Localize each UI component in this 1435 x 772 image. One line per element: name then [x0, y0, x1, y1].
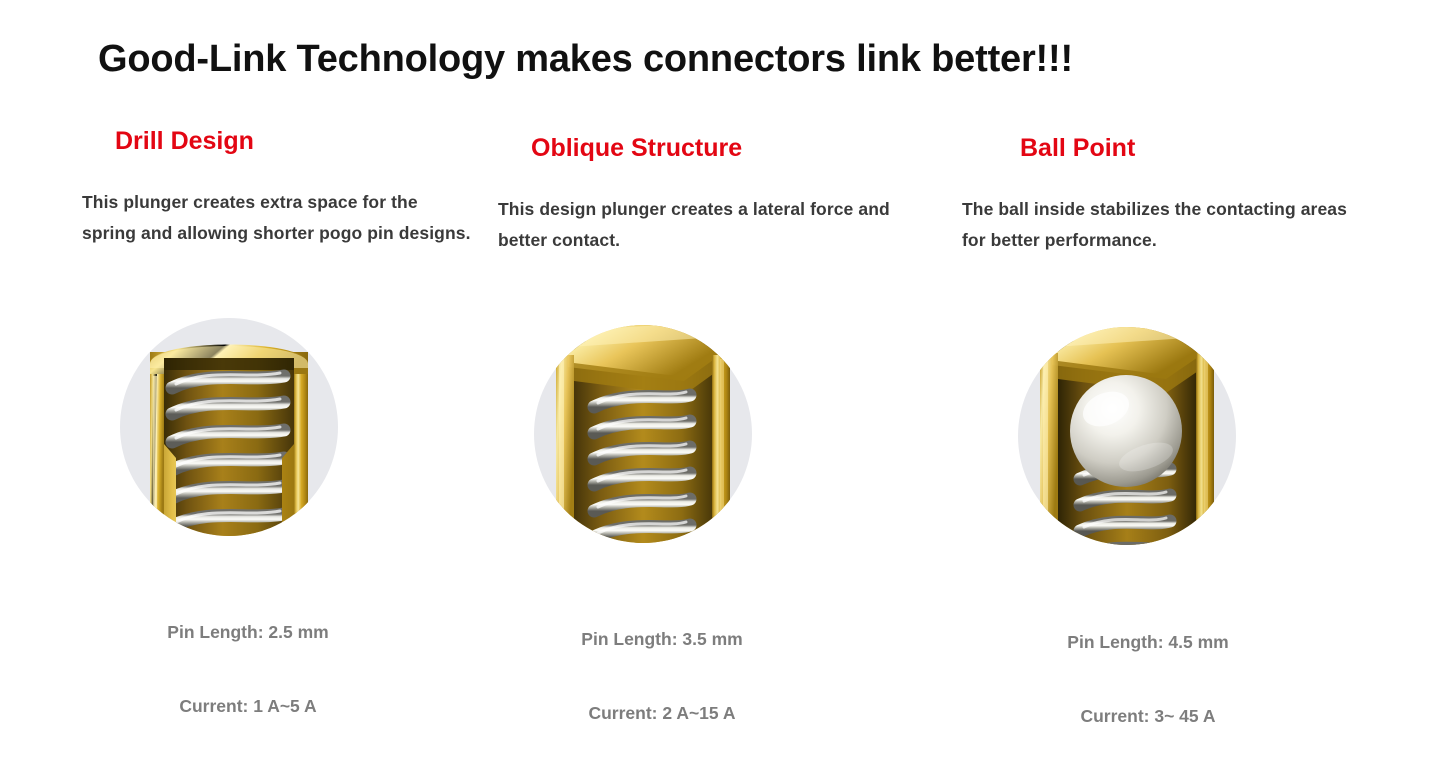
pin-length-value: Pin Length: 2.5 mm [78, 614, 418, 651]
pin-length-value: Pin Length: 4.5 mm [978, 624, 1318, 661]
pin-length-value: Pin Length: 3.5 mm [492, 621, 832, 658]
current-value: Current: 1 A~5 A [78, 688, 418, 725]
figure-clip [120, 318, 338, 536]
current-value: Current: 2 A~15 A [492, 695, 832, 732]
figure-clip [534, 325, 752, 543]
page-title: Good-Link Technology makes connectors li… [98, 38, 1073, 81]
feature-column-oblique-structure: Oblique Structure This design plunger cr… [478, 115, 918, 675]
figure-clip [1018, 327, 1236, 545]
column-description: The ball inside stabilizes the contactin… [962, 194, 1354, 256]
column-heading: Ball Point [1020, 134, 1135, 163]
feature-column-ball-point: Ball Point The ball inside stabilizes th… [940, 115, 1380, 675]
ball-point-pogo-pin-illustration [1018, 327, 1236, 545]
column-description: This plunger creates extra space for the… [82, 187, 474, 249]
specs-block: Pin Length: 4.5 mm Current: 3~ 45 A [978, 587, 1318, 772]
column-heading: Oblique Structure [531, 134, 742, 163]
current-value: Current: 3~ 45 A [978, 698, 1318, 735]
drill-design-pogo-pin-illustration [120, 318, 338, 536]
slide-canvas: Good-Link Technology makes connectors li… [0, 0, 1435, 688]
specs-block: Pin Length: 3.5 mm Current: 2 A~15 A [492, 584, 832, 769]
ball-point-pin-svg [1018, 327, 1236, 545]
oblique-structure-pogo-pin-illustration [534, 325, 752, 543]
oblique-structure-pin-svg [534, 325, 752, 543]
feature-column-drill-design: Drill Design This plunger creates extra … [62, 115, 502, 675]
column-heading: Drill Design [115, 127, 254, 156]
column-description: This design plunger creates a lateral fo… [498, 194, 910, 256]
specs-block: Pin Length: 2.5 mm Current: 1 A~5 A [78, 577, 418, 762]
drill-design-pin-svg [120, 318, 338, 536]
